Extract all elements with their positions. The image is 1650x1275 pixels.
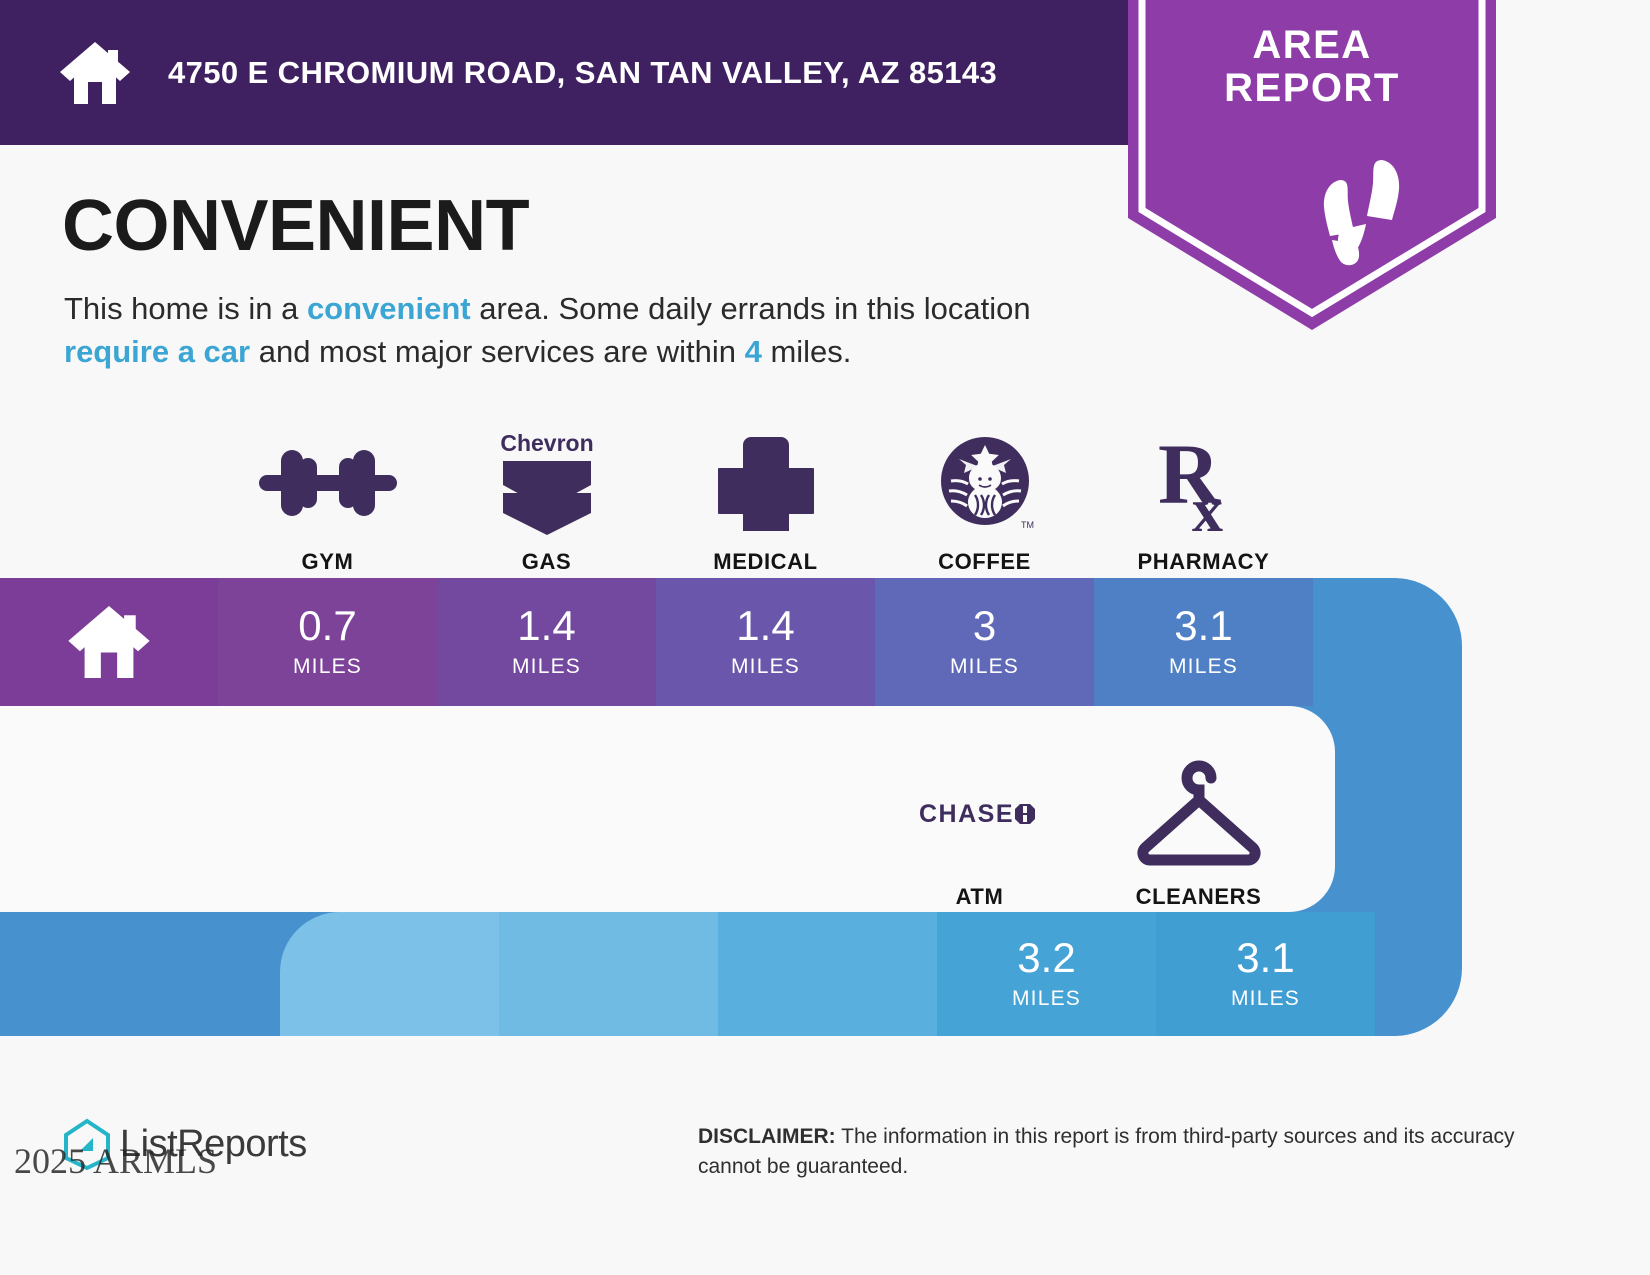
category-gym: GYM [218,415,437,575]
category-label: CLEANERS [1136,884,1262,910]
distance-value: 3.1 [1174,605,1232,647]
svg-text:x: x [1192,477,1223,535]
distance-value: 3 [973,605,996,647]
distance-unit: MILES [1231,987,1300,1011]
distance-value: 0.7 [298,605,356,647]
distance-value: 3.1 [1236,937,1294,979]
category-label: GAS [522,549,571,575]
top-icon-row: GYM Chevron GAS MEDICAL [218,415,1398,575]
distance-unit: MILES [293,655,362,679]
distance-cell-spacer-1 [280,912,499,1036]
category-cleaners: CLEANERS [1089,750,1308,910]
property-address: 4750 E CHROMIUM ROAD, SAN TAN VALLEY, AZ… [168,55,997,91]
distance-cell-gas: 1.4 MILES [437,578,656,706]
distance-unit: MILES [950,655,1019,679]
intro-paragraph: This home is in a convenient area. Some … [64,288,1104,374]
category-label: ATM [956,884,1004,910]
distance-unit: MILES [512,655,581,679]
distance-value: 1.4 [736,605,794,647]
origin-home-cell [0,578,218,706]
hanger-icon [1133,754,1265,872]
distance-unit: MILES [731,655,800,679]
distance-cell-gym: 0.7 MILES [218,578,437,706]
distance-cell-atm: 3.2 MILES [937,912,1156,1036]
mls-watermark: 2025 ARMLS [14,1140,217,1182]
page-title: CONVENIENT [62,185,529,267]
intro-highlight-1: convenient [307,291,471,326]
chevron-logo: Chevron [495,427,599,539]
svg-text:Chevron: Chevron [500,430,593,456]
home-icon [58,40,132,106]
distance-value: 3.2 [1017,937,1075,979]
distance-row-bottom: 3.2 MILES 3.1 MILES [280,912,1460,1036]
middle-icon-row: CHASE ATM CLEANERS [870,750,1310,910]
distance-cell-pharmacy: 3.1 MILES [1094,578,1313,706]
starbucks-logo: TM [935,427,1035,539]
distance-unit: MILES [1012,987,1081,1011]
category-pharmacy: R x PHARMACY [1094,415,1313,575]
distance-unit: MILES [1169,655,1238,679]
category-medical: MEDICAL [656,415,875,575]
intro-part-3: and most major services are within [250,334,744,369]
intro-part-1: This home is in a [64,291,307,326]
category-label: COFFEE [938,549,1031,575]
category-atm: CHASE ATM [870,750,1089,910]
category-gas: Chevron GAS [437,415,656,575]
dumbbell-icon [259,427,397,539]
intro-part-2: area. Some daily errands in this locatio… [471,291,1031,326]
svg-text:TM: TM [1021,520,1034,530]
intro-part-4: miles. [762,334,852,369]
distance-row-top: 0.7 MILES 1.4 MILES 1.4 MILES 3 MILES 3.… [0,578,1315,706]
svg-text:CHASE: CHASE [919,800,1014,828]
category-label: GYM [302,549,354,575]
distance-value: 1.4 [517,605,575,647]
distance-cell-spacer-3 [718,912,937,1036]
disclaimer-label: DISCLAIMER: [698,1125,836,1148]
intro-highlight-3: 4 [745,334,762,369]
chase-logo: CHASE [919,754,1041,872]
home-icon [66,603,152,681]
rx-icon: R x [1156,427,1252,539]
distance-cell-cleaners: 3.1 MILES [1156,912,1375,1036]
medical-cross-icon [718,427,814,539]
area-report-badge: AREA REPORT [1128,0,1496,330]
distance-cell-spacer-2 [499,912,718,1036]
category-label: MEDICAL [713,549,817,575]
distance-cell-coffee: 3 MILES [875,578,1094,706]
area-report-page: 4750 E CHROMIUM ROAD, SAN TAN VALLEY, AZ… [0,0,1650,1275]
intro-highlight-2: require a car [64,334,250,369]
badge-shape [1128,0,1496,330]
category-label: PHARMACY [1138,549,1270,575]
disclaimer: DISCLAIMER: The information in this repo… [698,1122,1518,1182]
header-bar: 4750 E CHROMIUM ROAD, SAN TAN VALLEY, AZ… [0,0,1180,145]
category-coffee: TM COFFEE [875,415,1094,575]
distance-cell-medical: 1.4 MILES [656,578,875,706]
